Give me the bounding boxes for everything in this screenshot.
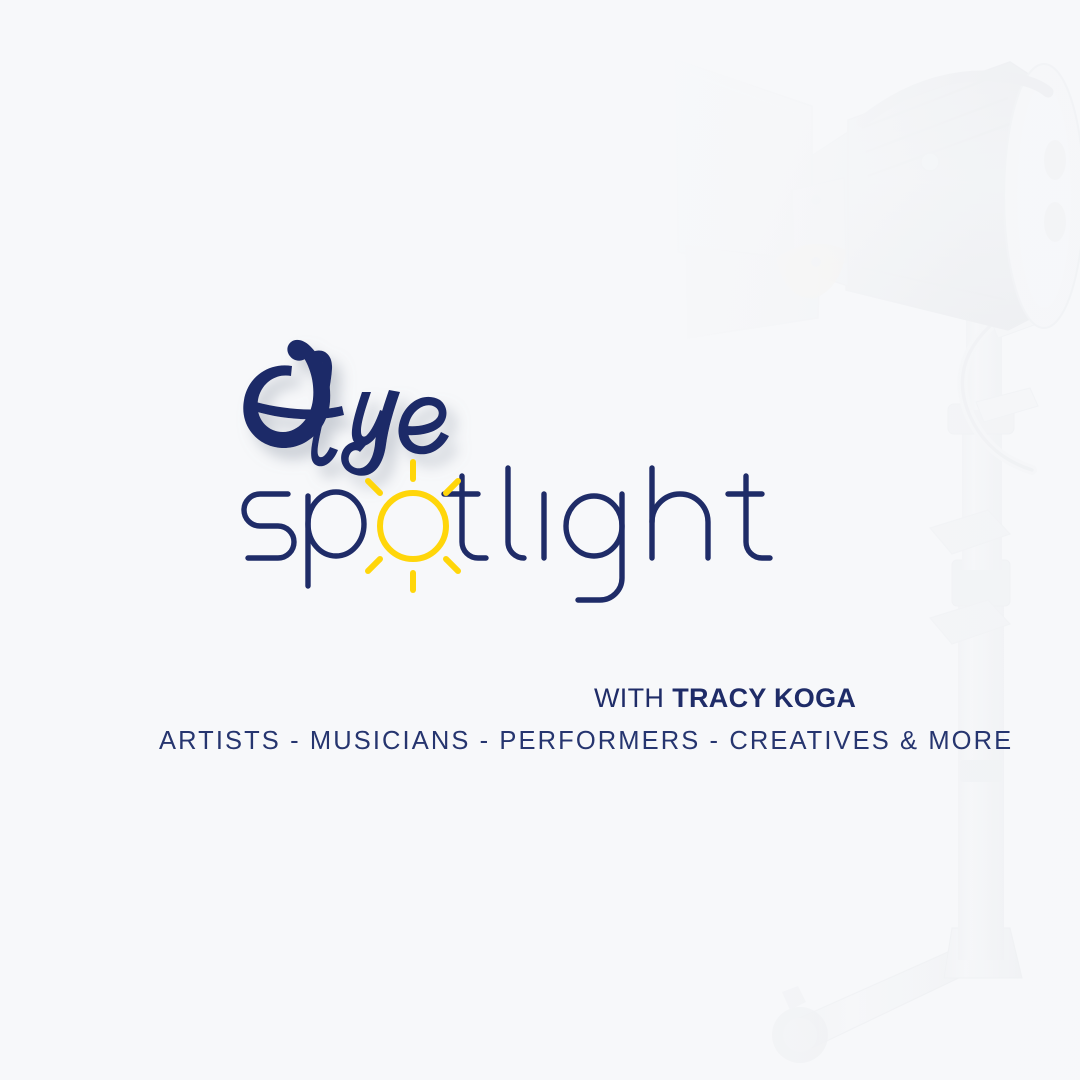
stand-leg xyxy=(772,940,992,1063)
sun-ray-sw xyxy=(368,559,380,571)
sun-icon xyxy=(368,462,458,590)
byline-prefix: WITH xyxy=(594,683,664,713)
barn-doors xyxy=(676,60,846,338)
sun-disc xyxy=(380,493,446,559)
letter-t-stem xyxy=(462,476,486,558)
logo-lockup: WITH TRACY KOGA xyxy=(226,340,846,576)
letter-p-bowl xyxy=(308,492,364,556)
sun-ray-se xyxy=(446,559,458,571)
byline-host-name: TRACY KOGA xyxy=(672,683,856,713)
logo-script-word xyxy=(234,340,846,452)
letter-t2-stem xyxy=(746,476,770,558)
letter-h-shoulder xyxy=(652,494,708,558)
byline: WITH TRACY KOGA xyxy=(594,683,856,714)
logo-main-word: WITH TRACY KOGA xyxy=(226,446,846,576)
letter-l xyxy=(508,468,524,558)
letter-g-bowl xyxy=(566,496,622,556)
letter-s xyxy=(244,494,294,558)
lamp-housing xyxy=(790,62,1080,330)
sun-ray-ne xyxy=(446,481,458,493)
poster-canvas: WITH TRACY KOGA ARTISTS - MUSICIANS - PE… xyxy=(0,0,1080,1080)
tagline: ARTISTS - MUSICIANS - PERFORMERS - CREAT… xyxy=(0,727,1080,756)
sun-ray-nw xyxy=(368,481,380,493)
spotlight-letterforms xyxy=(244,468,770,600)
